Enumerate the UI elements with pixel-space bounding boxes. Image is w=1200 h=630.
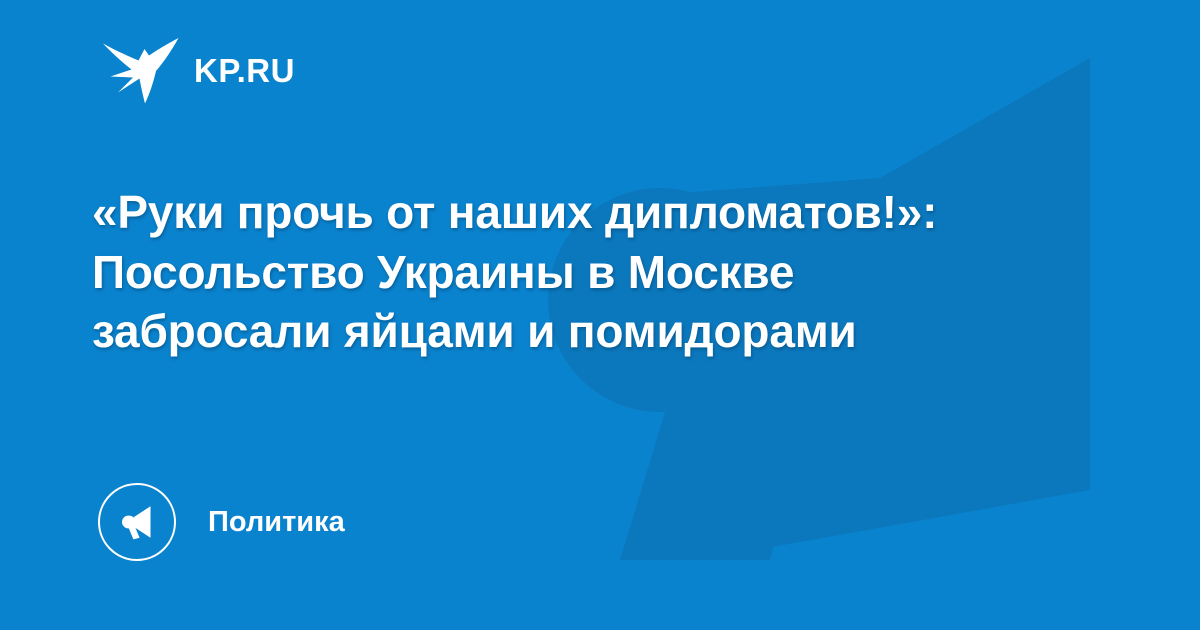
article-headline: «Руки прочь от наших дипломатов!»: Посол… (92, 183, 992, 362)
brand-wordmark: KP.RU (194, 54, 295, 87)
article-preview-card: KP.RU «Руки прочь от наших дипломатов!»:… (0, 0, 1200, 630)
swallow-bird-icon (100, 36, 180, 104)
brand-logo[interactable]: KP.RU (100, 36, 295, 104)
category-label: Политика (208, 508, 345, 537)
watermark-tail (620, 330, 830, 560)
megaphone-icon (98, 483, 176, 561)
category-badge[interactable]: Политика (98, 482, 345, 562)
watermark-lower-wing (640, 340, 1090, 560)
